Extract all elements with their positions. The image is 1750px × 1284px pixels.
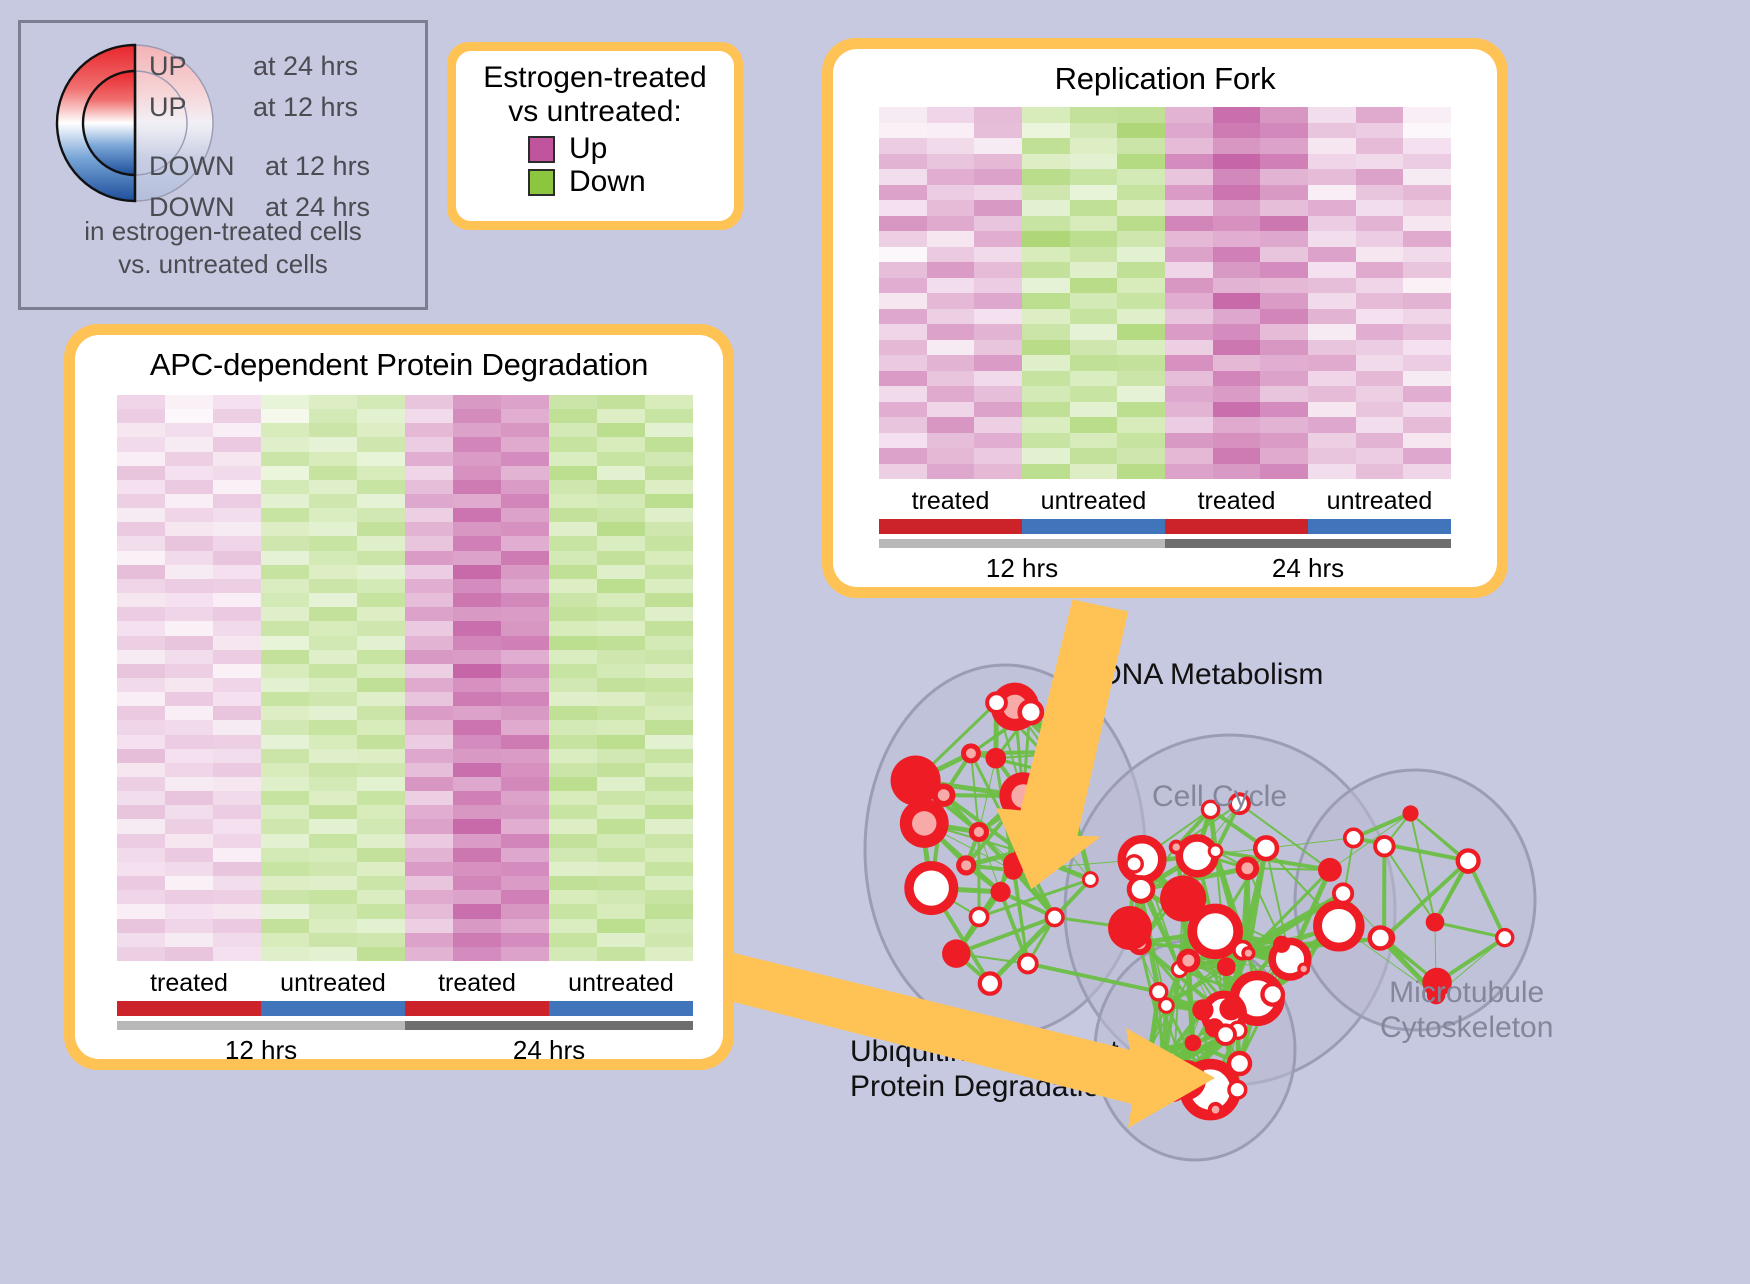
heatmap-cell: [597, 565, 645, 579]
heatmap-cell: [645, 607, 693, 621]
heatmap-cell: [357, 452, 405, 466]
network-node: [980, 973, 1000, 993]
cluster-label-microtubule-cytoskeleton: Microtubule Cytoskeleton: [1380, 976, 1553, 1045]
heatmap-cell: [879, 169, 927, 185]
heatmap-cell: [645, 819, 693, 833]
network-node-core: [1172, 843, 1179, 850]
apc-title: APC-dependent Protein Degradation: [75, 347, 723, 383]
cond-label-1: untreated: [1022, 487, 1165, 516]
heatmap-cell: [117, 791, 165, 805]
heatmap-cell: [1356, 417, 1404, 433]
heatmap-cell: [405, 763, 453, 777]
time-label-24: 24 hrs: [405, 1035, 693, 1059]
heatmap-cell: [927, 138, 975, 154]
heatmap-cell: [1213, 371, 1261, 387]
heatmap-cell: [1260, 262, 1308, 278]
heatmap-cell: [405, 933, 453, 947]
heatmap-cell: [549, 848, 597, 862]
heatmap-cell: [357, 494, 405, 508]
heatmap-cell: [213, 819, 261, 833]
heatmap-cell: [974, 340, 1022, 356]
heatmap-cell: [597, 904, 645, 918]
heatmap-cell: [117, 423, 165, 437]
heatmap-cell: [213, 848, 261, 862]
heatmap-cell: [549, 692, 597, 706]
heatmap-cell: [1213, 309, 1261, 325]
heatmap-cell: [645, 480, 693, 494]
heatmap-cell: [261, 621, 309, 635]
heatmap-cell: [213, 919, 261, 933]
heatmap-cell: [597, 466, 645, 480]
heatmap-cell: [549, 636, 597, 650]
heatmap-cell: [645, 621, 693, 635]
heatmap-cell: [1403, 169, 1451, 185]
heatmap-cell: [213, 395, 261, 409]
heatmap-cell: [357, 678, 405, 692]
heatmap-cell: [117, 834, 165, 848]
heatmap-cell: [261, 834, 309, 848]
heatmap-cell: [927, 433, 975, 449]
network-node-core: [961, 860, 971, 870]
heatmap-cell: [453, 522, 501, 536]
heatmap-cell: [1022, 262, 1070, 278]
heatmap-cell: [213, 763, 261, 777]
heatmap-cell: [1070, 464, 1118, 480]
network-node: [1219, 997, 1242, 1020]
heatmap-cell: [1403, 200, 1451, 216]
heatmap-cell: [165, 919, 213, 933]
heatmap-cell: [453, 678, 501, 692]
heatmap-cell: [453, 749, 501, 763]
heatmap-cell: [213, 466, 261, 480]
heatmap-cell: [261, 593, 309, 607]
heatmap-cell: [927, 262, 975, 278]
heatmap-cell: [405, 834, 453, 848]
heatmap-cell: [453, 919, 501, 933]
heatmap-cell: [405, 508, 453, 522]
heatmap-cell: [117, 607, 165, 621]
heatmap-cell: [1356, 278, 1404, 294]
heatmap-cell: [453, 551, 501, 565]
heatmap-cell: [261, 862, 309, 876]
heatmap-cell: [597, 536, 645, 550]
heatmap-cell: [645, 834, 693, 848]
heatmap-cell: [501, 579, 549, 593]
heatmap-cell: [597, 551, 645, 565]
heatmap-cell: [117, 650, 165, 664]
network-node-core: [1011, 784, 1035, 808]
heatmap-cell: [549, 565, 597, 579]
heatmap-cell: [597, 720, 645, 734]
heatmap-cell: [549, 919, 597, 933]
heatmap-cell: [357, 579, 405, 593]
condition-segment-0: [879, 519, 1022, 534]
network-node: [1426, 913, 1445, 932]
heatmap-cell: [1308, 278, 1356, 294]
heatmap-cell: [453, 947, 501, 961]
apc-time-bar: [117, 1021, 693, 1030]
heatmap-cell: [309, 650, 357, 664]
heatmap-cell: [309, 508, 357, 522]
heatmap-cell: [165, 763, 213, 777]
heatmap-cell: [453, 636, 501, 650]
heatmap-cell: [1308, 200, 1356, 216]
heatmap-cell: [597, 919, 645, 933]
heatmap-cell: [309, 678, 357, 692]
heatmap-cell: [645, 650, 693, 664]
heatmap-cell: [213, 480, 261, 494]
heatmap-cell: [405, 536, 453, 550]
heatmap-cell: [1213, 417, 1261, 433]
heatmap-cell: [549, 678, 597, 692]
heatmap-cell: [1403, 216, 1451, 232]
cond-label-2: treated: [1165, 487, 1308, 516]
heatmap-cell: [549, 508, 597, 522]
heatmap-cell: [117, 395, 165, 409]
heatmap-cell: [501, 862, 549, 876]
heatmap-cell: [165, 508, 213, 522]
heatmap-cell: [1165, 216, 1213, 232]
heatmap-cell: [405, 409, 453, 423]
heatmap-cell: [927, 448, 975, 464]
heatmap-cell: [1165, 169, 1213, 185]
heatmap-cell: [597, 409, 645, 423]
heatmap-cell: [165, 848, 213, 862]
heatmap-cell: [974, 138, 1022, 154]
heatmap-cell: [117, 409, 165, 423]
heatmap-cell: [261, 636, 309, 650]
heatmap-cell: [405, 621, 453, 635]
heatmap-cell: [165, 805, 213, 819]
network-node: [1345, 829, 1362, 846]
heatmap-cell: [357, 791, 405, 805]
heatmap-cell: [549, 819, 597, 833]
legend-title-line1: Estrogen-treated: [456, 61, 734, 95]
heatmap-cell: [165, 395, 213, 409]
heatmap-cell: [117, 706, 165, 720]
heatmap-cell: [309, 437, 357, 451]
heatmap-cell: [261, 735, 309, 749]
heatmap-cell: [261, 848, 309, 862]
legend-title: Estrogen-treated vs untreated:: [456, 51, 734, 128]
heatmap-cell: [1165, 200, 1213, 216]
heatmap-cell: [1356, 293, 1404, 309]
heatmap-cell: [501, 777, 549, 791]
heatmap-cell: [597, 452, 645, 466]
heatmap-cell: [309, 706, 357, 720]
heatmap-cell: [645, 876, 693, 890]
heatmap-cell: [1165, 293, 1213, 309]
heatmap-cell: [549, 480, 597, 494]
heatmap-cell: [879, 417, 927, 433]
heatmap-cell: [357, 466, 405, 480]
heatmap-cell: [645, 720, 693, 734]
heatmap-cell: [453, 593, 501, 607]
heatmap-cell: [309, 947, 357, 961]
heatmap-cell: [261, 890, 309, 904]
heatmap-cell: [213, 593, 261, 607]
heatmap-cell: [1260, 309, 1308, 325]
heatmap-cell: [213, 536, 261, 550]
time-segment-1: [405, 1021, 693, 1030]
heatmap-cell: [309, 395, 357, 409]
network-node: [1458, 850, 1479, 871]
heatmap-cell: [1117, 169, 1165, 185]
network-node-core: [1017, 848, 1023, 854]
replication-fork-condition-bar: [879, 519, 1451, 534]
heatmap-cell: [501, 636, 549, 650]
replication-fork-panel: Replication Fork treated untreated treat…: [822, 38, 1508, 598]
heatmap-cell: [405, 848, 453, 862]
heatmap-cell: [309, 621, 357, 635]
heatmap-cell: [405, 720, 453, 734]
heatmap-cell: [645, 791, 693, 805]
heatmap-cell: [879, 278, 927, 294]
condition-segment-2: [1165, 519, 1308, 534]
heatmap-cell: [453, 862, 501, 876]
heatmap-cell: [309, 763, 357, 777]
heatmap-cell: [1070, 293, 1118, 309]
heatmap-cell: [309, 565, 357, 579]
heatmap-cell: [213, 579, 261, 593]
heatmap-cell: [1260, 231, 1308, 247]
heatmap-cell: [645, 579, 693, 593]
heatmap-cell: [213, 904, 261, 918]
network-node: [1108, 906, 1152, 950]
apc-condition-labels: treated untreated treated untreated: [117, 969, 693, 998]
condition-segment-1: [261, 1001, 405, 1016]
network-node: [1216, 1025, 1235, 1044]
network-node: [1126, 856, 1142, 872]
heatmap-cell: [645, 593, 693, 607]
heatmap-cell: [1070, 216, 1118, 232]
heatmap-cell: [501, 650, 549, 664]
heatmap-cell: [1403, 340, 1451, 356]
heatmap-cell: [597, 636, 645, 650]
heatmap-cell: [879, 324, 927, 340]
heatmap-cell: [1117, 324, 1165, 340]
heatmap-cell: [1260, 216, 1308, 232]
heatmap-cell: [117, 452, 165, 466]
heatmap-cell: [1213, 355, 1261, 371]
heatmap-cell: [1117, 262, 1165, 278]
heatmap-cell: [501, 607, 549, 621]
network-node: [990, 882, 1010, 902]
heatmap-cell: [1117, 293, 1165, 309]
cond-label-0: treated: [117, 969, 261, 998]
network-node-core: [938, 789, 950, 801]
heatmap-cell: [549, 720, 597, 734]
heatmap-cell: [165, 735, 213, 749]
heatmap-cell: [1070, 386, 1118, 402]
figure-canvas: UP at 24 hrs UP at 12 hrs DOWN at 12 hrs…: [0, 0, 1750, 1279]
heatmap-cell: [405, 777, 453, 791]
heatmap-cell: [597, 805, 645, 819]
heatmap-cell: [927, 355, 975, 371]
heatmap-cell: [453, 621, 501, 635]
heatmap-cell: [501, 819, 549, 833]
network-node: [1020, 701, 1042, 723]
heatmap-cell: [165, 579, 213, 593]
heatmap-cell: [357, 636, 405, 650]
heatmap-cell: [213, 565, 261, 579]
heatmap-cell: [1117, 371, 1165, 387]
heatmap-cell: [597, 692, 645, 706]
heatmap-cell: [453, 536, 501, 550]
heatmap-cell: [405, 452, 453, 466]
heatmap-cell: [1403, 309, 1451, 325]
heatmap-cell: [213, 607, 261, 621]
heatmap-cell: [261, 819, 309, 833]
heatmap-cell: [357, 777, 405, 791]
heatmap-cell: [501, 480, 549, 494]
heatmap-cell: [165, 819, 213, 833]
heatmap-cell: [213, 947, 261, 961]
heatmap-cell: [597, 480, 645, 494]
heatmap-cell: [501, 933, 549, 947]
heatmap-cell: [1213, 324, 1261, 340]
cond-label-0: treated: [879, 487, 1022, 516]
heatmap-cell: [1356, 433, 1404, 449]
heatmap-cell: [645, 565, 693, 579]
heatmap-cell: [1165, 154, 1213, 170]
heatmap-cell: [1022, 185, 1070, 201]
heatmap-cell: [261, 437, 309, 451]
heatmap-cell: [357, 848, 405, 862]
replication-fork-time-bar: [879, 539, 1451, 548]
heatmap-cell: [1117, 247, 1165, 263]
heatmap-cell: [357, 834, 405, 848]
network-node: [1255, 837, 1277, 859]
heatmap-cell: [927, 200, 975, 216]
heatmap-cell: [261, 452, 309, 466]
heatmap-cell: [597, 706, 645, 720]
heatmap-cell: [357, 551, 405, 565]
heatmap-cell: [1022, 247, 1070, 263]
network-node-core: [966, 748, 976, 758]
heatmap-cell: [309, 791, 357, 805]
heatmap-cell: [261, 423, 309, 437]
heatmap-cell: [645, 805, 693, 819]
network-node: [1209, 845, 1222, 858]
heatmap-cell: [549, 452, 597, 466]
apc-panel: APC-dependent Protein Degradation treate…: [64, 324, 734, 1070]
heatmap-cell: [1403, 107, 1451, 123]
heatmap-cell: [117, 494, 165, 508]
heatmap-cell: [879, 464, 927, 480]
heatmap-cell: [597, 621, 645, 635]
heatmap-cell: [1213, 448, 1261, 464]
heatmap-cell: [261, 678, 309, 692]
heatmap-cell: [213, 522, 261, 536]
heatmap-cell: [261, 947, 309, 961]
heatmap-cell: [1403, 123, 1451, 139]
heatmap-cell: [213, 876, 261, 890]
network-node: [1273, 936, 1290, 953]
network-node: [985, 748, 1006, 769]
heatmap-cell: [405, 522, 453, 536]
heatmap-cell: [165, 494, 213, 508]
legend-panel: Estrogen-treated vs untreated: Up Down: [447, 42, 743, 230]
heatmap-cell: [309, 919, 357, 933]
heatmap-cell: [597, 494, 645, 508]
heatmap-cell: [597, 862, 645, 876]
heatmap-cell: [261, 480, 309, 494]
heatmap-cell: [261, 650, 309, 664]
heatmap-cell: [1165, 402, 1213, 418]
heatmap-cell: [1213, 216, 1261, 232]
heatmap-cell: [117, 536, 165, 550]
heatmap-cell: [879, 386, 927, 402]
heatmap-cell: [974, 293, 1022, 309]
heatmap-cell: [453, 805, 501, 819]
heatmap-cell: [879, 216, 927, 232]
network-node: [1192, 908, 1238, 954]
heatmap-cell: [357, 890, 405, 904]
heatmap-cell: [501, 834, 549, 848]
heatmap-cell: [1356, 185, 1404, 201]
heatmap-cell: [549, 621, 597, 635]
heatmap-cell: [309, 834, 357, 848]
heatmap-cell: [261, 409, 309, 423]
heatmap-cell: [213, 706, 261, 720]
heatmap-cell: [1213, 402, 1261, 418]
cond-label-1: untreated: [261, 969, 405, 998]
heatmap-cell: [1022, 402, 1070, 418]
heatmap-cell: [261, 763, 309, 777]
heatmap-cell: [645, 890, 693, 904]
heatmap-cell: [597, 395, 645, 409]
heatmap-cell: [1260, 200, 1308, 216]
key-footer: in estrogen-treated cells vs. untreated …: [21, 215, 425, 280]
heatmap-cell: [453, 904, 501, 918]
heatmap-cell: [117, 664, 165, 678]
heatmap-cell: [453, 409, 501, 423]
condition-segment-0: [117, 1001, 261, 1016]
network-node: [1318, 904, 1361, 947]
heatmap-cell: [405, 919, 453, 933]
heatmap-cell: [117, 593, 165, 607]
heatmap-cell: [645, 466, 693, 480]
heatmap-cell: [597, 848, 645, 862]
heatmap-cell: [309, 494, 357, 508]
heatmap-cell: [927, 417, 975, 433]
heatmap-cell: [501, 522, 549, 536]
heatmap-cell: [549, 536, 597, 550]
heatmap-cell: [453, 579, 501, 593]
heatmap-cell: [1308, 231, 1356, 247]
heatmap-cell: [213, 423, 261, 437]
cluster-label-dna-metabolism: DNA Metabolism: [1100, 658, 1323, 693]
heatmap-cell: [357, 536, 405, 550]
heatmap-cell: [879, 448, 927, 464]
network-node: [1062, 740, 1085, 763]
heatmap-cell: [453, 735, 501, 749]
heatmap-cell: [501, 692, 549, 706]
heatmap-cell: [165, 621, 213, 635]
cond-label-2: treated: [405, 969, 549, 998]
heatmap-cell: [309, 848, 357, 862]
heatmap-cell: [1165, 123, 1213, 139]
heatmap-cell: [1022, 216, 1070, 232]
heatmap-cell: [1117, 231, 1165, 247]
heatmap-cell: [597, 678, 645, 692]
heatmap-cell: [501, 494, 549, 508]
heatmap-cell: [879, 433, 927, 449]
heatmap-cell: [1213, 293, 1261, 309]
heatmap-cell: [549, 409, 597, 423]
heatmap-cell: [549, 834, 597, 848]
